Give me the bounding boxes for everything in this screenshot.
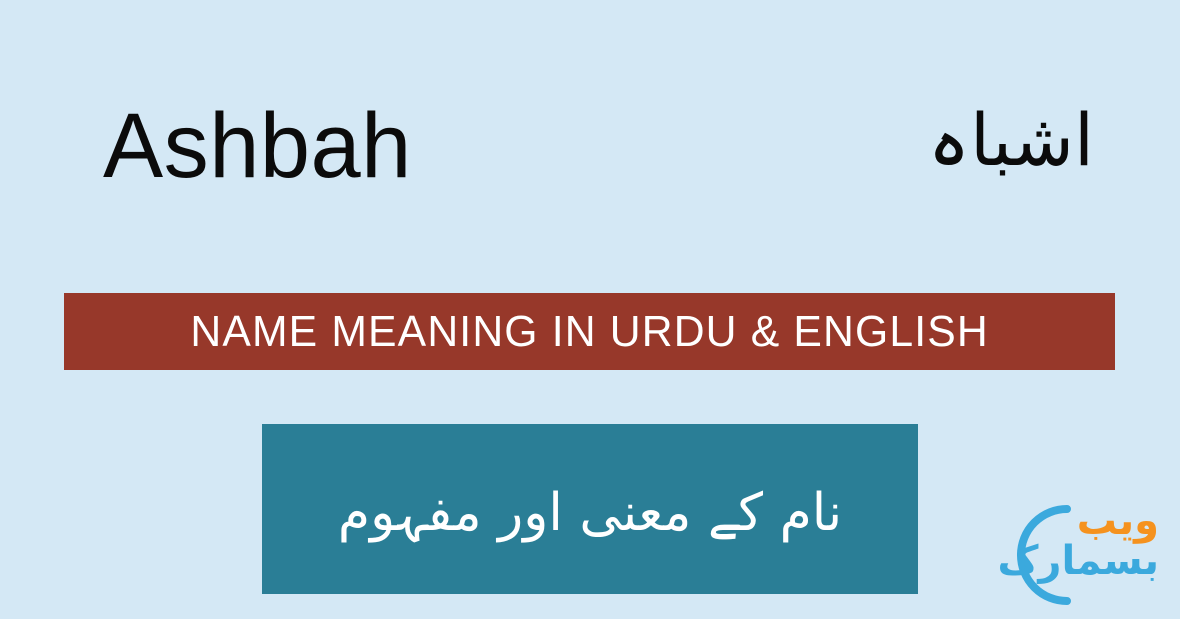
name-meaning-banner: Ashbah اشباہ NAME MEANING IN URDU & ENGL… xyxy=(0,0,1180,619)
latin-name-text: Ashbah xyxy=(103,100,412,192)
urdu-subtitle-box: نام کے معنی اور مفہوم xyxy=(262,424,918,594)
logo-word-top: ویب xyxy=(1077,501,1159,541)
logo-word-bottom: بسمارک xyxy=(997,541,1159,581)
headline-banner: NAME MEANING IN URDU & ENGLISH xyxy=(64,293,1115,370)
urdu-name-text: اشباہ xyxy=(928,92,1094,189)
name-header-row: Ashbah اشباہ xyxy=(0,0,1180,270)
headline-text: NAME MEANING IN URDU & ENGLISH xyxy=(190,307,989,357)
urdu-subtitle-text: نام کے معنی اور مفہوم xyxy=(338,474,842,552)
brand-logo[interactable]: ویب بسمارک xyxy=(1005,495,1165,615)
